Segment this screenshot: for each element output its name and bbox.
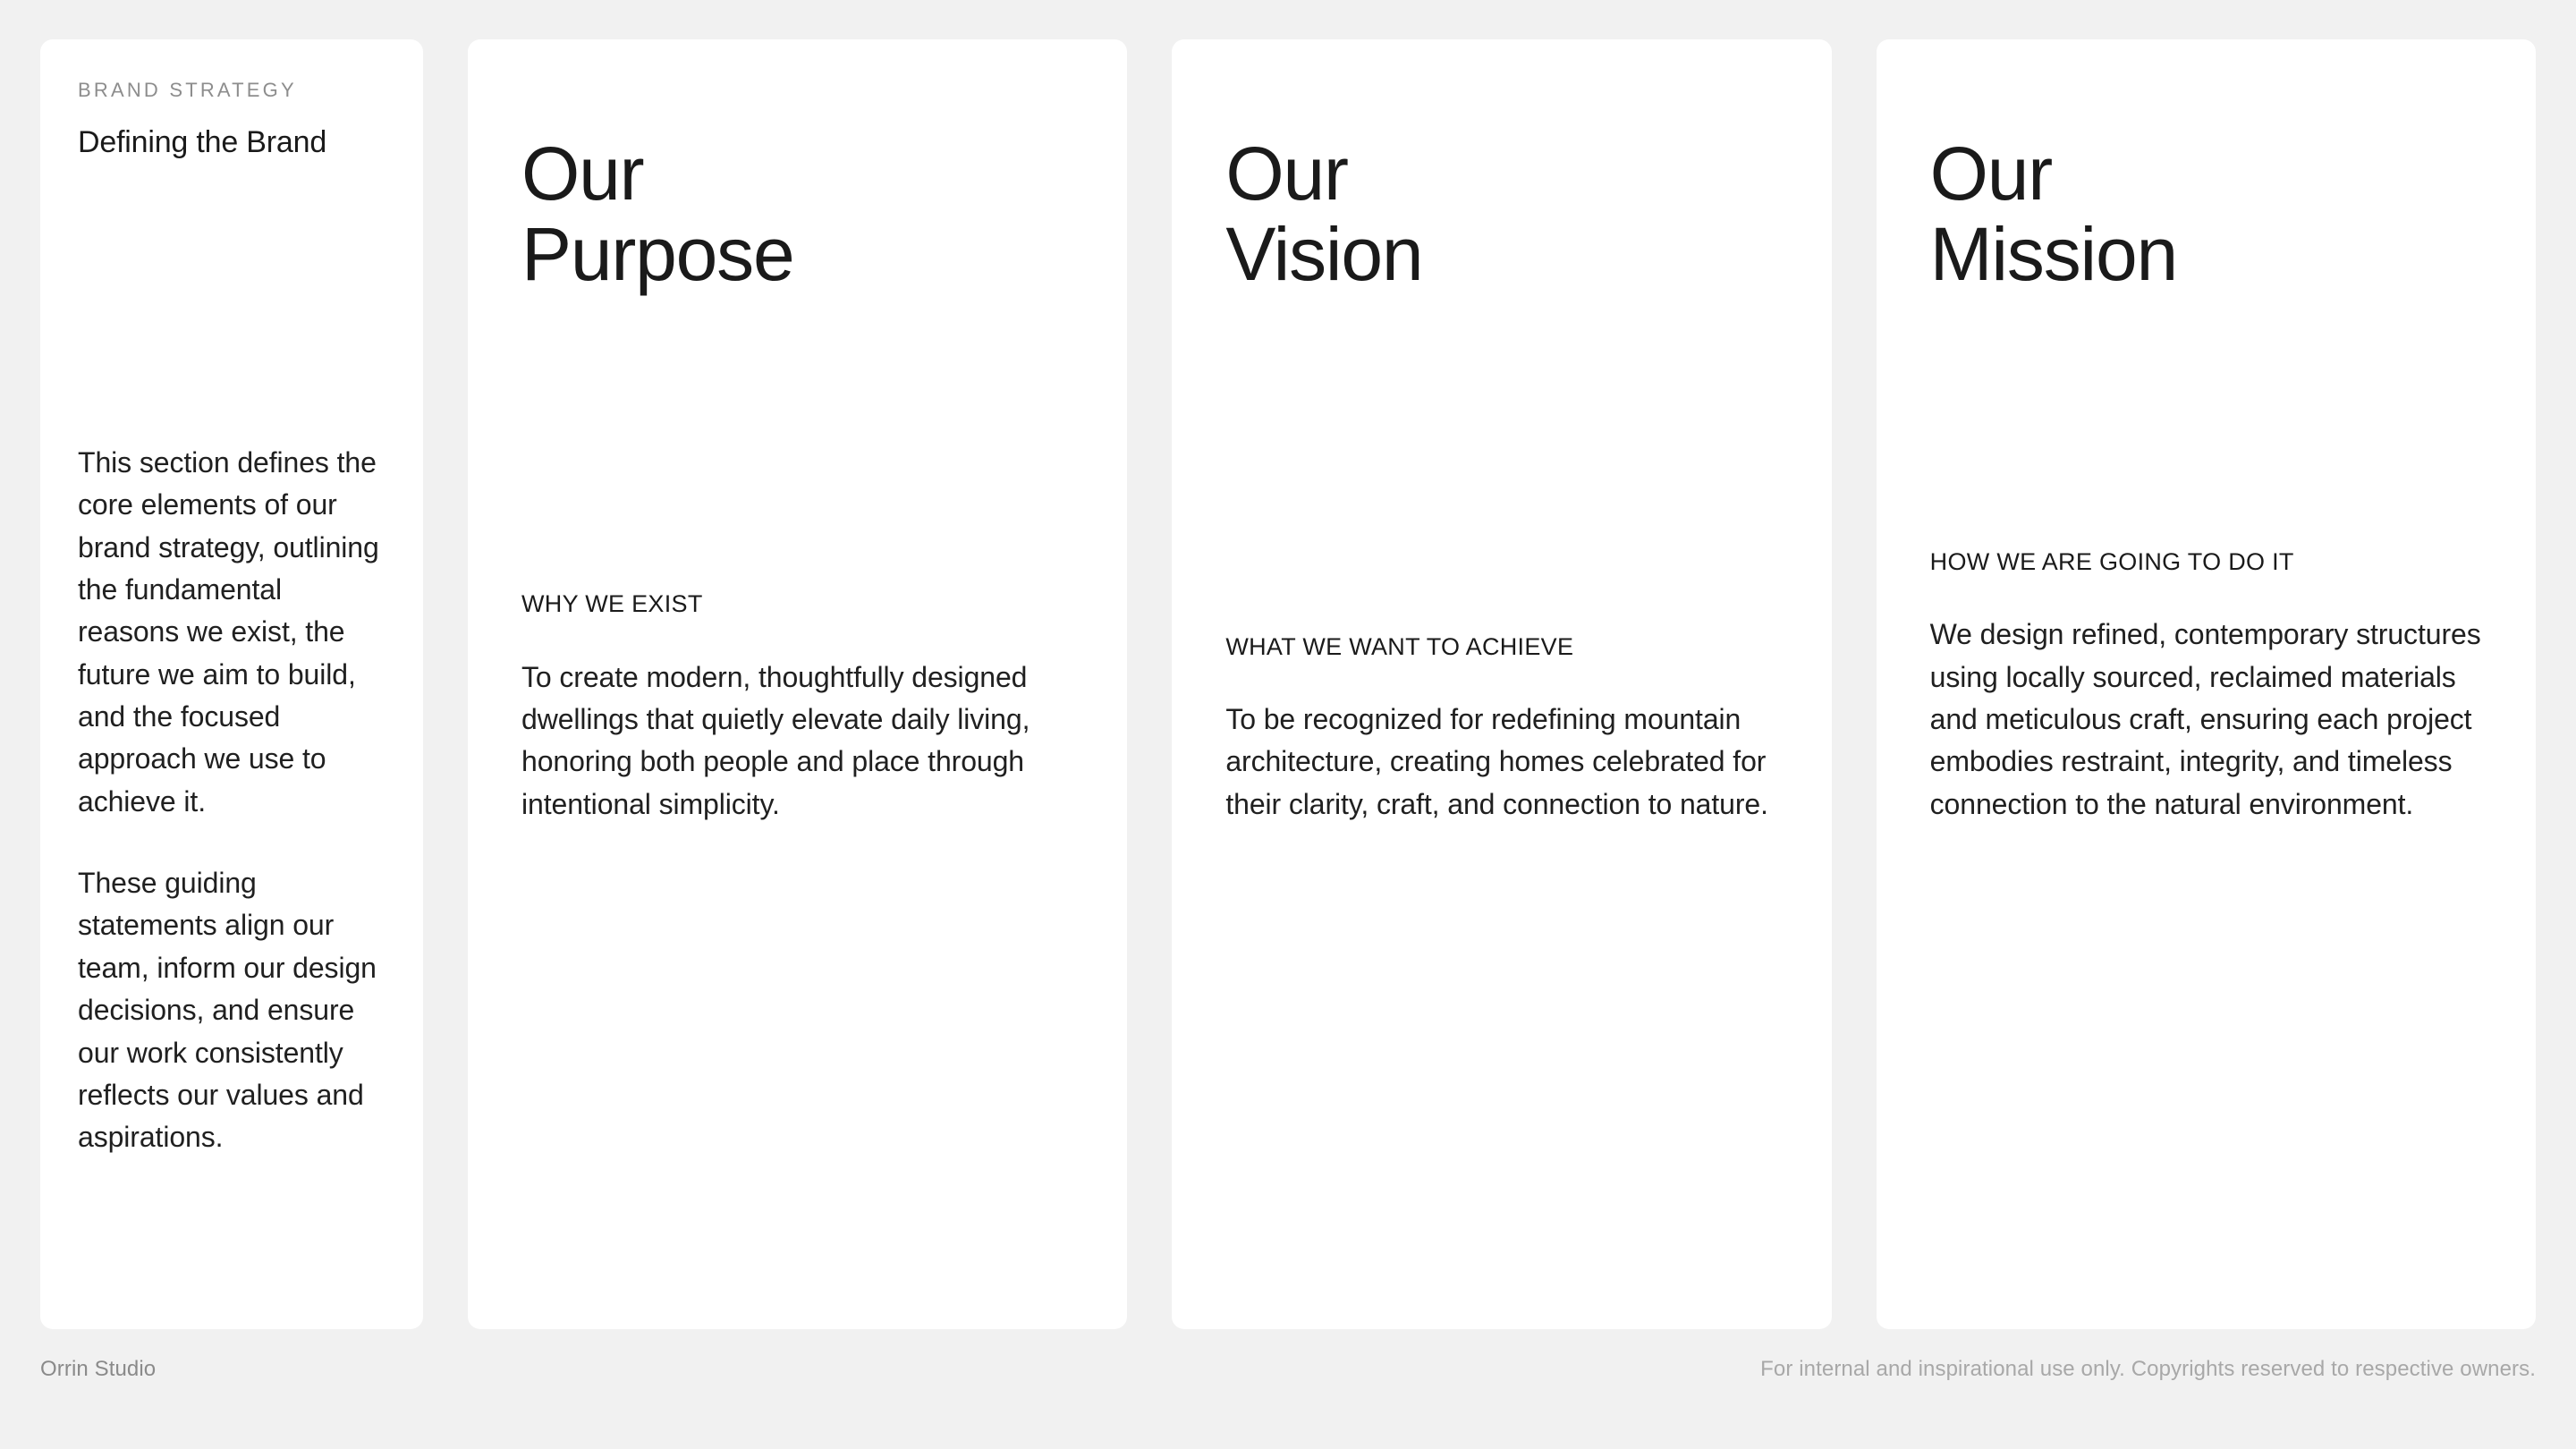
statement-heading-line-1: Our xyxy=(1930,134,2496,215)
intro-paragraph: This section defines the core elements o… xyxy=(78,442,386,823)
statement-heading-line-1: Our xyxy=(521,134,1088,215)
eyebrow-label: BRAND STRATEGY xyxy=(78,79,386,102)
page-footer: Orrin Studio For internal and inspiratio… xyxy=(40,1290,2536,1449)
statement-heading: Our Purpose xyxy=(521,134,1088,295)
statement-card-purpose: Our Purpose WHY WE EXIST To create moder… xyxy=(468,39,1127,1329)
statement-heading-line-1: Our xyxy=(1225,134,1792,215)
statement-footer-block: HOW WE ARE GOING TO DO IT We design refi… xyxy=(1930,547,2496,1293)
statement-heading-line-2: Vision xyxy=(1225,215,1792,295)
statement-footer-block: WHY WE EXIST To create modern, thoughtfu… xyxy=(521,589,1088,1293)
statement-card-vision: Our Vision WHAT WE WANT TO ACHIEVE To be… xyxy=(1172,39,1831,1329)
studio-name: Orrin Studio xyxy=(40,1357,156,1382)
copyright-disclaimer: For internal and inspirational use only.… xyxy=(1760,1357,2536,1382)
statement-body: We design refined, contemporary structur… xyxy=(1930,614,2496,826)
statement-card-mission: Our Mission HOW WE ARE GOING TO DO IT We… xyxy=(1877,39,2536,1329)
statement-heading-line-2: Mission xyxy=(1930,215,2496,295)
cards-row: BRAND STRATEGY Defining the Brand This s… xyxy=(40,39,2536,1329)
statement-label: WHAT WE WANT TO ACHIEVE xyxy=(1225,632,1792,661)
intro-paragraph: These guiding statements align our team,… xyxy=(78,862,386,1159)
statement-heading: Our Mission xyxy=(1930,134,2496,295)
statement-body: To be recognized for redefining mountain… xyxy=(1225,699,1792,826)
brand-strategy-page: BRAND STRATEGY Defining the Brand This s… xyxy=(0,0,2576,1449)
statement-footer-block: WHAT WE WANT TO ACHIEVE To be recognized… xyxy=(1225,632,1792,1293)
statement-body: To create modern, thoughtfully designed … xyxy=(521,657,1088,826)
statement-heading-line-2: Purpose xyxy=(521,215,1088,295)
intro-card: BRAND STRATEGY Defining the Brand This s… xyxy=(40,39,423,1329)
intro-body: This section defines the core elements o… xyxy=(78,442,386,1159)
statement-heading: Our Vision xyxy=(1225,134,1792,295)
statement-label: HOW WE ARE GOING TO DO IT xyxy=(1930,547,2496,576)
statement-label: WHY WE EXIST xyxy=(521,589,1088,618)
page-title: Defining the Brand xyxy=(78,123,386,162)
